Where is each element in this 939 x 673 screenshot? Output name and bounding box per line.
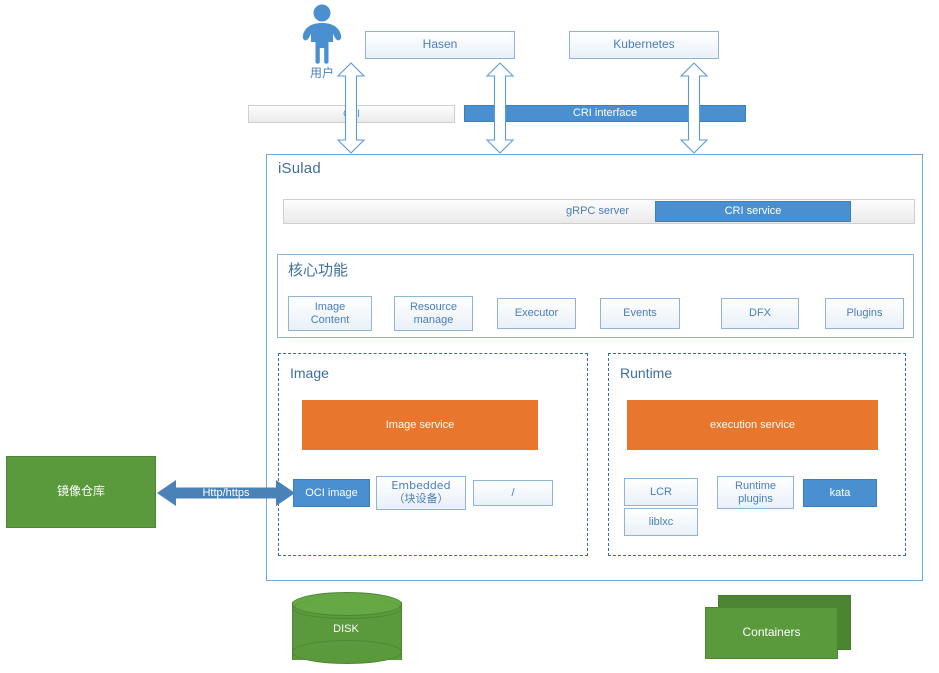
runtime-backend-label-line1: kata	[830, 487, 851, 500]
runtime-backend-label-line1: liblxc	[649, 516, 673, 529]
image-backend-embedded[interactable]: Embedded （块设备）	[376, 476, 466, 510]
client-label: Kubernetes	[613, 38, 674, 52]
image-service-label: Image service	[386, 419, 454, 432]
cri-service-box[interactable]: CRI service	[655, 201, 851, 222]
core-item-events[interactable]: Events	[600, 298, 680, 329]
runtime-backend-label-line1: LCR	[650, 486, 672, 499]
execution-service-box[interactable]: execution service	[627, 400, 878, 450]
client-box-hasen[interactable]: Hasen	[365, 31, 515, 59]
core-item-dfx[interactable]: DFX	[721, 298, 799, 329]
core-item-label-line1: Executor	[515, 307, 558, 320]
isulad-title: iSulad	[278, 160, 321, 177]
core-item-plugins[interactable]: Plugins	[825, 298, 904, 329]
image-backend-oci-image[interactable]: OCI image	[293, 479, 370, 507]
grpc-server-label: gRPC server	[545, 199, 650, 224]
core-item-label-line1: DFX	[749, 307, 771, 320]
client-box-kubernetes[interactable]: Kubernetes	[569, 31, 719, 59]
http-protocol-label: Http/https	[180, 482, 272, 504]
core-item-resource-manage[interactable]: Resource manage	[394, 296, 473, 331]
containers-label: Containers	[742, 626, 800, 640]
core-item-executor[interactable]: Executor	[497, 298, 576, 329]
disk-cylinder: DISK	[292, 592, 400, 670]
image-section-title: Image	[290, 365, 329, 381]
core-functions-title: 核心功能	[288, 259, 348, 280]
runtime-backend-runtime-plugins[interactable]: Runtime plugins	[717, 476, 794, 509]
image-registry-box[interactable]: 镜像仓库	[6, 456, 156, 528]
runtime-backend-liblxc[interactable]: liblxc	[624, 508, 698, 536]
image-backend-label-line1: OCI image	[305, 487, 358, 500]
core-item-label-line1: Plugins	[846, 307, 882, 320]
core-item-label-line1: Image	[315, 301, 346, 314]
containers-box-front[interactable]: Containers	[705, 607, 838, 659]
image-service-box[interactable]: Image service	[302, 400, 538, 450]
execution-service-label: execution service	[710, 419, 795, 432]
core-item-label-line2: manage	[414, 314, 454, 327]
core-functions-panel	[277, 254, 914, 338]
cri-interface-label: CRI interface	[573, 107, 637, 120]
disk-label: DISK	[292, 623, 400, 635]
disk-lip	[292, 598, 402, 619]
core-item-image-content[interactable]: Image Content	[288, 296, 372, 331]
core-item-label-line1: Events	[623, 307, 657, 320]
image-backend-label-line1: /	[511, 487, 514, 500]
runtime-section-title: Runtime	[620, 365, 672, 381]
core-item-label-line1: Resource	[410, 301, 457, 314]
runtime-backend-lcr[interactable]: LCR	[624, 478, 698, 506]
runtime-backend-label-line1: Runtime	[735, 480, 776, 493]
core-item-label-line2: Content	[311, 314, 350, 327]
disk-bottom	[292, 640, 402, 664]
arrow-user-to-isulad	[336, 62, 366, 154]
image-backend-label-line2: （块设备）	[394, 493, 449, 506]
runtime-backend-label-line2: plugins	[738, 493, 773, 506]
person-icon	[300, 4, 344, 66]
client-label: Hasen	[423, 38, 458, 52]
runtime-backend-kata[interactable]: kata	[803, 479, 877, 507]
arrow-kubernetes-to-isulad	[679, 62, 709, 154]
arrow-hasen-to-isulad	[485, 62, 515, 154]
image-section-panel	[278, 353, 588, 556]
image-registry-label: 镜像仓库	[57, 485, 105, 499]
image-backend-other[interactable]: /	[473, 480, 553, 506]
cri-service-label: CRI service	[725, 205, 782, 218]
